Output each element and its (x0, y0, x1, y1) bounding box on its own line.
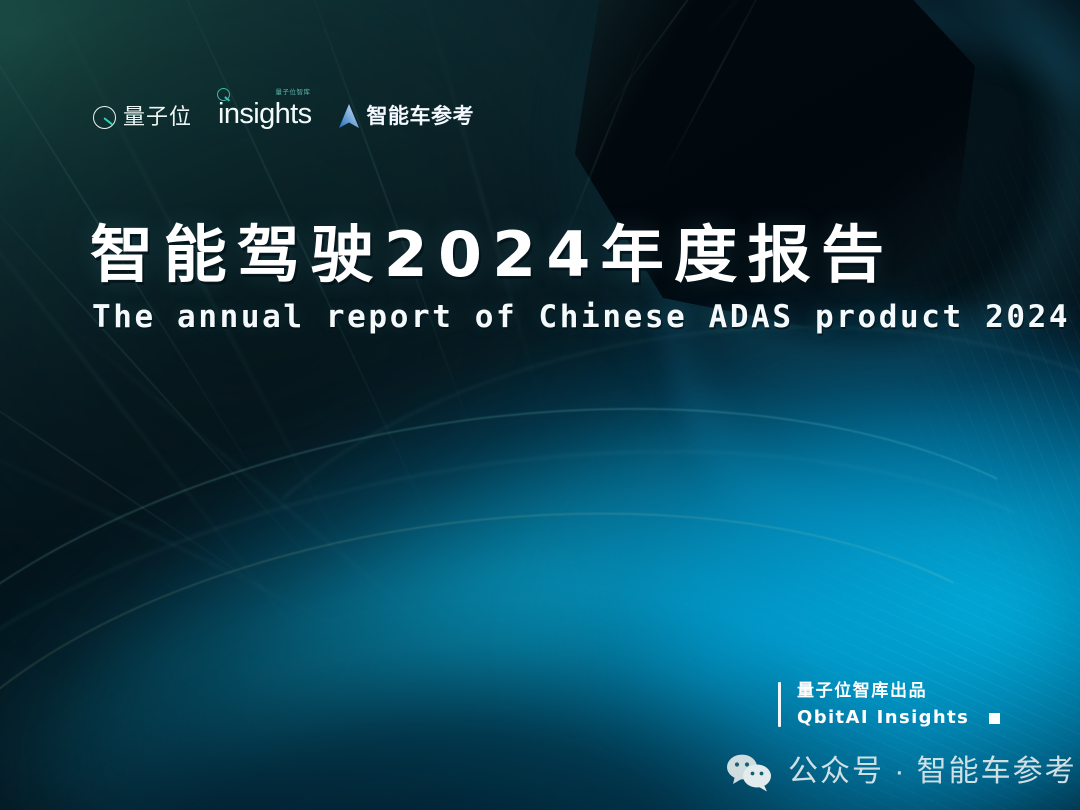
wechat-icon (726, 752, 774, 792)
credit-publisher-cn: 量子位智库出品 (797, 682, 1000, 699)
credit-block: 量子位智库出品 QbitAI Insights (778, 682, 1000, 727)
arrow-up-icon (338, 104, 360, 129)
page-subtitle-en: The annual report of Chinese ADAS produc… (92, 299, 1070, 335)
logo-qbitai-insights[interactable]: 量子位智库 insights (218, 92, 312, 129)
page-title-cn: 智能驾驶2024年度报告 (90, 204, 894, 294)
logo-row: 量子位 量子位智库 insights (93, 92, 474, 129)
logo-zhinengche-cankao[interactable]: 智能车参考 (338, 104, 475, 129)
insights-q-icon (217, 88, 230, 101)
credit-publisher-en: QbitAI Insights (797, 709, 969, 727)
report-cover-poster: 量子位 量子位智库 insights (0, 0, 1080, 810)
logo-zhinengche-label: 智能车参考 (367, 106, 475, 127)
background-ripple-corner (590, 370, 1080, 810)
logo-qbitai[interactable]: 量子位 (93, 106, 192, 129)
logo-insights-label: insights (218, 98, 312, 130)
logo-qbitai-label: 量子位 (123, 106, 192, 128)
logo-insights-superscript: 量子位智库 (276, 90, 311, 97)
square-marker-icon (989, 713, 1000, 724)
credit-accent-bar (778, 682, 781, 727)
wechat-handle[interactable]: 公众号 · 智能车参考 (726, 752, 1077, 792)
wechat-handle-label: 公众号 · 智能车参考 (788, 757, 1077, 787)
qbit-q-icon (93, 106, 116, 129)
